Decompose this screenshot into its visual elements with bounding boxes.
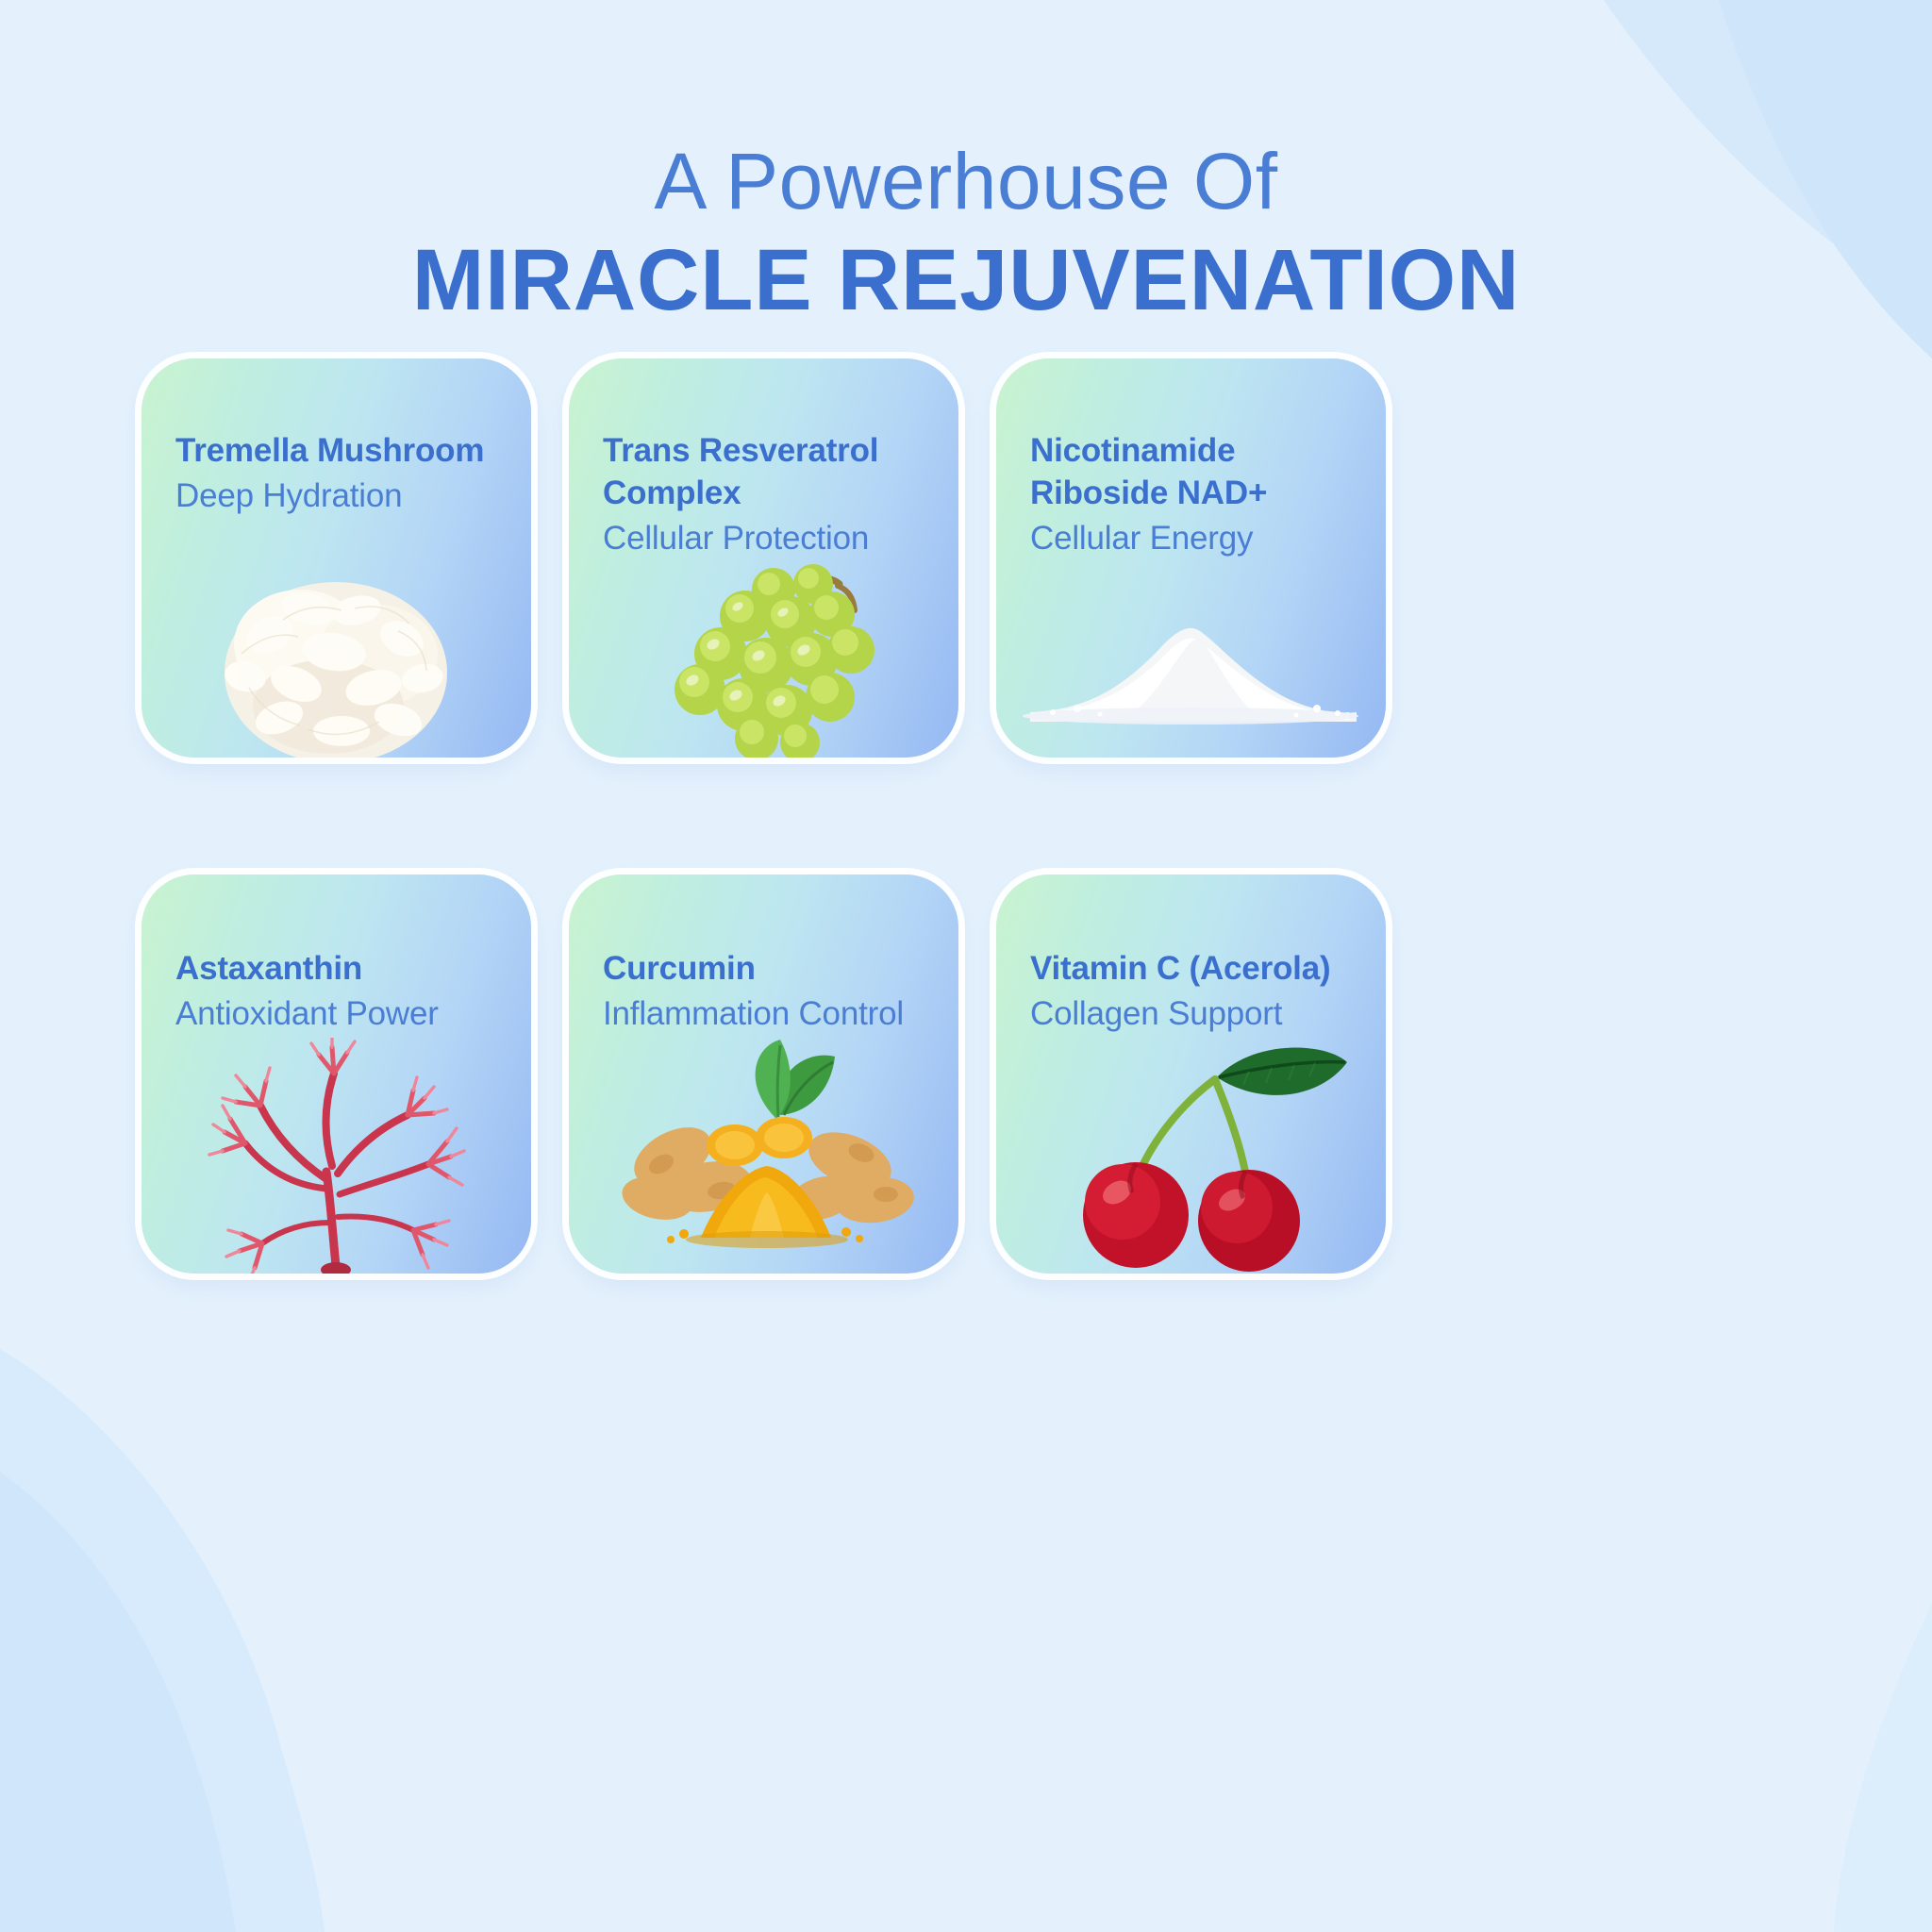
turmeric-icon [569, 1038, 958, 1274]
ingredient-card-tremella-mushroom[interactable]: Tremella Mushroom Deep Hydration [142, 358, 531, 758]
card-text-block: Tremella Mushroom Deep Hydration [175, 430, 508, 519]
card-text-block: Astaxanthin Antioxidant Power [175, 948, 508, 1037]
card-title: Vitamin C (Acerola) [1030, 948, 1363, 991]
infographic-page: A Powerhouse Of MIRACLE REJUVENATION Tre… [0, 0, 1932, 1932]
ingredient-card-astaxanthin[interactable]: Astaxanthin Antioxidant Power [142, 874, 531, 1274]
card-subtitle: Deep Hydration [175, 475, 508, 519]
ingredient-card-nicotinamide-riboside-nad[interactable]: Nicotinamide Riboside NAD+ Cellular Ener… [996, 358, 1386, 758]
card-title: Tremella Mushroom [175, 430, 508, 473]
card-subtitle: Collagen Support [1030, 992, 1363, 1037]
ingredient-card-grid: Tremella Mushroom Deep Hydration [142, 358, 1790, 1274]
ingredient-card-curcumin[interactable]: Curcumin Inflammation Control [569, 874, 958, 1274]
card-text-block: Vitamin C (Acerola) Collagen Support [1030, 948, 1363, 1037]
ingredient-card-vitamin-c-acerola[interactable]: Vitamin C (Acerola) Collagen Support [996, 874, 1386, 1274]
page-title-line-2: MIRACLE REJUVENATION [0, 233, 1932, 328]
green-grapes-icon [569, 522, 958, 758]
ingredient-card-trans-resveratrol-complex[interactable]: Trans Resveratrol Complex Cellular Prote… [569, 358, 958, 758]
card-subtitle: Inflammation Control [603, 992, 936, 1037]
page-header: A Powerhouse Of MIRACLE REJUVENATION [0, 140, 1932, 328]
card-title: Nicotinamide Riboside NAD+ [1030, 430, 1363, 515]
card-text-block: Curcumin Inflammation Control [603, 948, 936, 1037]
red-algae-icon [142, 1038, 531, 1274]
card-title: Trans Resveratrol Complex [603, 430, 936, 515]
card-subtitle: Antioxidant Power [175, 992, 508, 1037]
tremella-mushroom-icon [142, 522, 531, 758]
white-powder-icon [996, 522, 1386, 758]
card-title: Astaxanthin [175, 948, 508, 991]
acerola-cherries-icon [996, 1038, 1386, 1274]
page-title-line-1: A Powerhouse Of [0, 140, 1932, 224]
card-title: Curcumin [603, 948, 936, 991]
